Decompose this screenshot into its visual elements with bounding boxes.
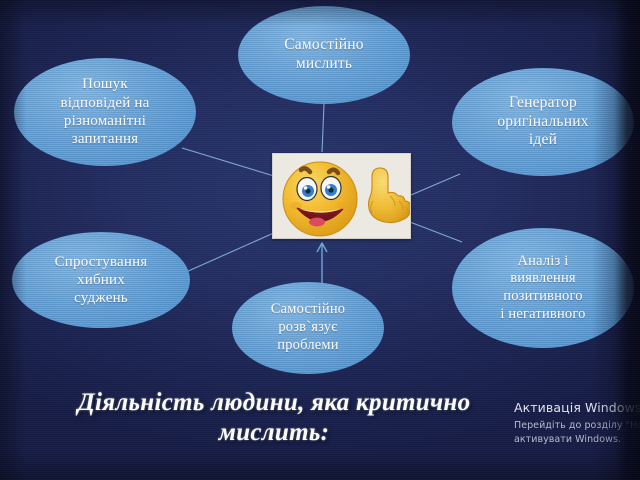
line: Генератор (491, 94, 594, 113)
line: різноманітні (54, 112, 155, 130)
line: запитання (54, 130, 155, 148)
line: Самостійно (278, 36, 369, 55)
line: і негативного (494, 306, 591, 324)
connector-refute (186, 232, 276, 272)
line: Аналіз і (494, 253, 591, 271)
line: хибних (49, 271, 154, 289)
ellipse-generator-of-ideas-label: Генератор оригінальних ідей (485, 94, 600, 151)
connector-generator (411, 174, 460, 195)
line: Спростування (49, 253, 154, 271)
ellipse-analysis-label: Аналіз і виявлення позитивного і негатив… (488, 253, 597, 324)
ellipse-refute-false-judgements-label: Спростування хибних суджень (43, 253, 160, 308)
watermark-title: Активація Windows (514, 400, 640, 415)
ellipse-think-independently[interactable]: Самостійно мислить (238, 6, 410, 104)
presentation-slide: Пошук відповідей на різноманітні запитан… (0, 0, 640, 480)
ellipse-think-independently-label: Самостійно мислить (272, 36, 375, 74)
line: мислить (278, 55, 369, 74)
connector-search (182, 148, 274, 176)
line: позитивного (494, 288, 591, 306)
watermark-line-1: Перейдіть до розділу "На (514, 419, 640, 433)
watermark-line-2: активувати Windows. (514, 433, 640, 447)
line: виявлення (494, 270, 591, 288)
line: проблеми (265, 337, 351, 355)
ellipse-search-answers-label: Пошук відповідей на різноманітні запитан… (48, 75, 161, 148)
ellipse-generator-of-ideas[interactable]: Генератор оригінальних ідей (452, 68, 634, 176)
ellipse-analysis[interactable]: Аналіз і виявлення позитивного і негатив… (452, 228, 634, 348)
line: Самостійно (265, 301, 351, 319)
connector-analysis (410, 222, 462, 242)
connector-think (322, 104, 324, 152)
smiley-pointing-up-icon (273, 154, 411, 239)
line: розв`язує (265, 319, 351, 337)
line: відповідей на (54, 94, 155, 112)
windows-activation-watermark: Активація Windows Перейдіть до розділу "… (514, 400, 640, 448)
center-image-smiley-pointing (272, 153, 411, 239)
ellipse-solves-problems-label: Самостійно розв`язує проблеми (259, 301, 357, 354)
line: суджень (49, 289, 154, 307)
line: оригінальних (491, 113, 594, 132)
line: ідей (491, 131, 594, 150)
slide-title-line2: мислить: (34, 418, 514, 448)
slide-title: Діяльність людини, яка критично мислить: (34, 388, 514, 447)
line: Пошук (54, 75, 155, 93)
ellipse-solves-problems[interactable]: Самостійно розв`язує проблеми (232, 282, 384, 374)
ellipse-search-answers[interactable]: Пошук відповідей на різноманітні запитан… (14, 58, 196, 166)
ellipse-refute-false-judgements[interactable]: Спростування хибних суджень (12, 232, 190, 328)
slide-title-line1: Діяльність людини, яка критично (34, 388, 514, 418)
